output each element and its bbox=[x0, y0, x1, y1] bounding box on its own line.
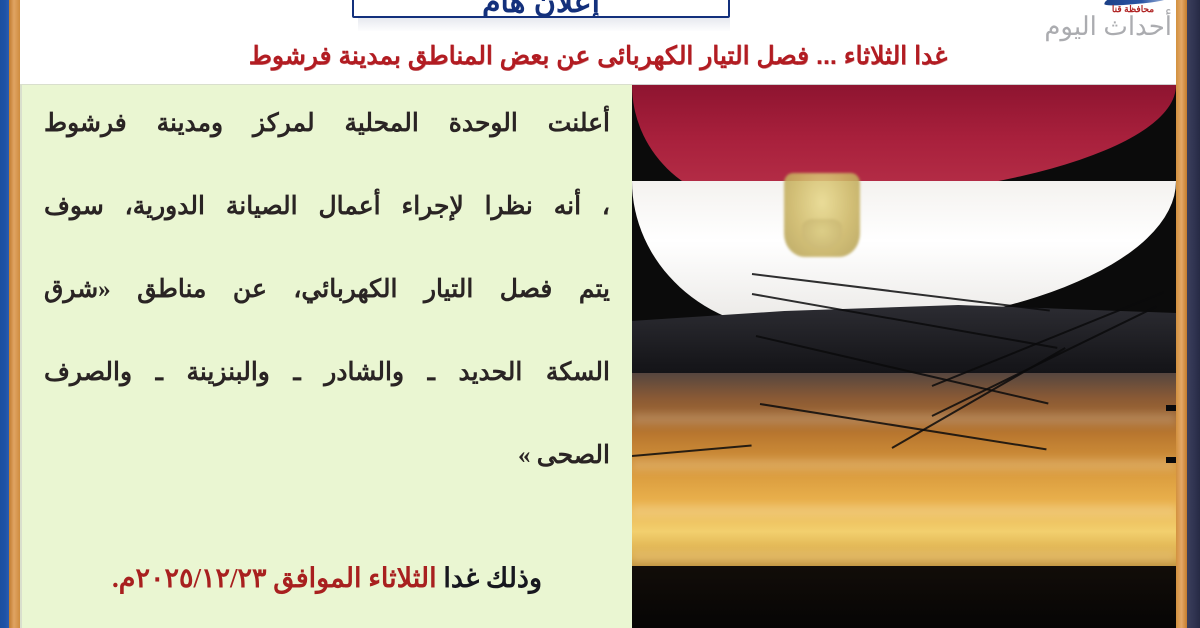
effective-date-lead: وذلك غدا bbox=[437, 563, 542, 593]
left-blue-border bbox=[0, 0, 9, 628]
body-line: الصحى » bbox=[44, 443, 610, 468]
body-line: يتم فصل التيار الكهربائي، عن مناطق «شرق bbox=[44, 277, 610, 302]
cloud-band bbox=[632, 505, 1176, 517]
top-banner-text: إعلان هام bbox=[354, 0, 728, 18]
cloud-band bbox=[632, 551, 1176, 563]
top-banner-shadow bbox=[358, 18, 730, 31]
right-navy-border bbox=[1187, 0, 1200, 628]
body-line: السكة الحديد ـ والشادر ـ والبنزينة ـ وال… bbox=[44, 360, 610, 385]
page-title: غدا الثلاثاء ... فصل التيار الكهربائى عن… bbox=[20, 36, 1176, 76]
cloud-band bbox=[632, 459, 1176, 471]
egyptian-flag-backdrop bbox=[632, 85, 1176, 385]
article-photo bbox=[632, 84, 1176, 628]
content-row: أعلنت الوحدة المحلية لمركز ومدينة فرشوط … bbox=[20, 84, 1176, 628]
watermark-text: أحداث اليوم bbox=[1044, 12, 1172, 42]
left-orange-border bbox=[9, 0, 20, 628]
right-orange-border bbox=[1176, 0, 1187, 628]
dark-foreground bbox=[632, 566, 1176, 628]
effective-date-line: وذلك غدا الثلاثاء الموافق ٢٠٢٥/١٢/٢٣م. bbox=[44, 563, 610, 594]
eagle-of-saladin-icon bbox=[784, 173, 860, 257]
effective-date-value: الثلاثاء الموافق ٢٠٢٥/١٢/٢٣م. bbox=[112, 563, 437, 593]
article-image-canvas: إعلان هام محافظة قنا أحداث اليوم غدا الث… bbox=[0, 0, 1200, 628]
cloud-band bbox=[632, 413, 1176, 425]
body-line: أعلنت الوحدة المحلية لمركز ومدينة فرشوط bbox=[44, 111, 610, 136]
announcement-text-panel: أعلنت الوحدة المحلية لمركز ومدينة فرشوط … bbox=[20, 84, 632, 628]
body-line: ، أنه نظرا لإجراء أعمال الصيانة الدورية،… bbox=[44, 194, 610, 219]
top-banner: إعلان هام bbox=[352, 0, 730, 18]
